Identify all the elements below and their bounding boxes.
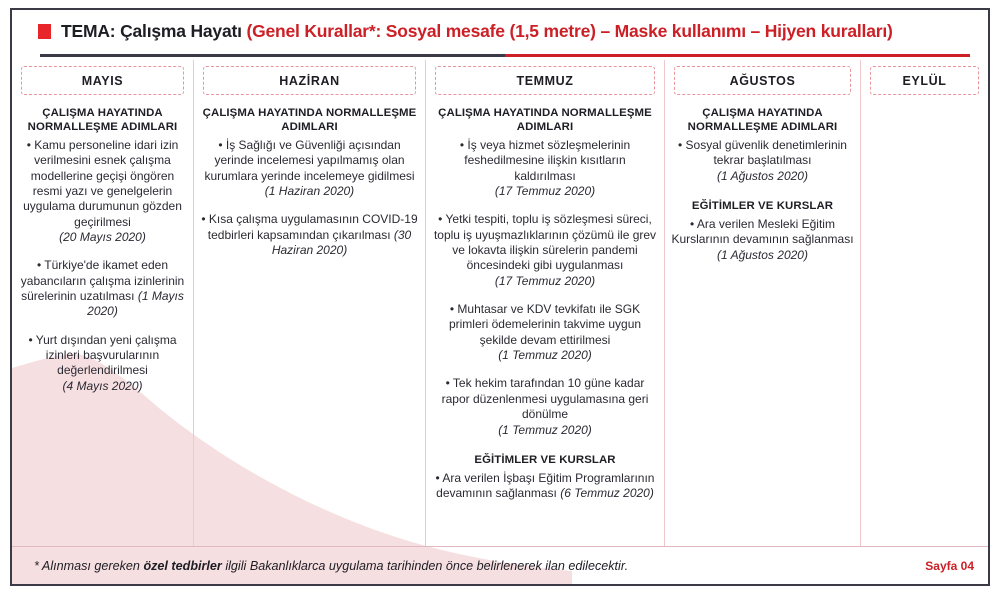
list-item-date: (1 Ağustos 2020) bbox=[717, 169, 808, 183]
section-heading: ÇALIŞMA HAYATINDA NORMALLEŞME ADIMLARI bbox=[18, 107, 187, 135]
month-column-eylul: EYLÜL bbox=[861, 60, 988, 546]
list-item-text: • Kısa çalışma uygulamasının COVID-19 te… bbox=[201, 212, 417, 241]
list-item: • Yurt dışından yeni çalışma izinleri ba… bbox=[18, 333, 187, 394]
list-item: • İş veya hizmet sözleşmelerinin feshedi… bbox=[432, 138, 658, 199]
month-header-temmuz[interactable]: TEMMUZ bbox=[435, 66, 655, 95]
list-item: • Tek hekim tarafından 10 güne kadar rap… bbox=[432, 376, 658, 437]
list-item-date: (17 Temmuz 2020) bbox=[495, 184, 595, 198]
page-title: TEMA: Çalışma Hayatı (Genel Kurallar*: S… bbox=[12, 10, 988, 52]
title-text: TEMA: Çalışma Hayatı (Genel Kurallar*: S… bbox=[61, 21, 893, 42]
month-body-agustos: ÇALIŞMA HAYATINDA NORMALLEŞME ADIMLARI •… bbox=[671, 107, 854, 263]
list-item-date: (1 Temmuz 2020) bbox=[498, 423, 592, 437]
list-item: • Yetki tespiti, toplu iş sözleşmesi sür… bbox=[432, 212, 658, 289]
footer-note-emphasis: özel tedbirler bbox=[143, 559, 221, 573]
month-label: AĞUSTOS bbox=[730, 74, 796, 88]
month-body-haziran: ÇALIŞMA HAYATINDA NORMALLEŞME ADIMLARI •… bbox=[200, 107, 419, 258]
list-item-date: (1 Temmuz 2020) bbox=[498, 348, 592, 362]
list-item-text: • Kamu personeline idari izin verilmesin… bbox=[23, 138, 182, 229]
list-item-date: (4 Mayıs 2020) bbox=[62, 379, 142, 393]
list-item-text: • Sosyal güvenlik denetimlerinin tekrar … bbox=[678, 138, 847, 167]
section-heading: ÇALIŞMA HAYATINDA NORMALLEŞME ADIMLARI bbox=[200, 107, 419, 135]
list-item-text: • Yurt dışından yeni çalışma izinleri ba… bbox=[28, 333, 176, 378]
list-item: • Sosyal güvenlik denetimlerinin tekrar … bbox=[671, 138, 854, 184]
list-item: • Ara verilen İşbaşı Eğitim Programların… bbox=[432, 471, 658, 502]
month-column-mayis: MAYIS ÇALIŞMA HAYATINDA NORMALLEŞME ADIM… bbox=[12, 60, 194, 546]
list-item-text: • İş Sağlığı ve Güvenliği açısından yeri… bbox=[204, 138, 414, 183]
footer-note: * Alınması gereken özel tedbirler ilgili… bbox=[34, 559, 925, 573]
month-body-temmuz: ÇALIŞMA HAYATINDA NORMALLEŞME ADIMLARI •… bbox=[432, 107, 658, 502]
month-column-agustos: AĞUSTOS ÇALIŞMA HAYATINDA NORMALLEŞME AD… bbox=[665, 60, 861, 546]
list-item-date: (1 Ağustos 2020) bbox=[717, 248, 808, 262]
month-columns: MAYIS ÇALIŞMA HAYATINDA NORMALLEŞME ADIM… bbox=[12, 60, 988, 546]
list-item-date: (1 Haziran 2020) bbox=[265, 184, 354, 198]
footer-note-tail: ilgili Bakanlıklarca uygulama tarihinden… bbox=[222, 559, 628, 573]
month-label: EYLÜL bbox=[903, 74, 947, 88]
list-item-date: (6 Temmuz 2020) bbox=[560, 486, 654, 500]
title-divider-red-half bbox=[505, 54, 970, 57]
month-body-mayis: ÇALIŞMA HAYATINDA NORMALLEŞME ADIMLARI •… bbox=[18, 107, 187, 394]
slide-frame: TEMA: Çalışma Hayatı (Genel Kurallar*: S… bbox=[10, 8, 990, 586]
footer-note-lead: * Alınması gereken bbox=[34, 559, 143, 573]
month-header-mayis[interactable]: MAYIS bbox=[21, 66, 184, 95]
list-item: • Kamu personeline idari izin verilmesin… bbox=[18, 138, 187, 246]
list-item-date: (20 Mayıs 2020) bbox=[59, 230, 146, 244]
title-divider-rule bbox=[40, 54, 970, 57]
list-item: • İş Sağlığı ve Güvenliği açısından yeri… bbox=[200, 138, 419, 199]
section-heading: EĞİTİMLER VE KURSLAR bbox=[671, 200, 854, 214]
month-column-temmuz: TEMMUZ ÇALIŞMA HAYATINDA NORMALLEŞME ADI… bbox=[426, 60, 665, 546]
list-item-text: • Tek hekim tarafından 10 güne kadar rap… bbox=[442, 376, 649, 421]
list-item: • Türkiye'de ikamet eden yabancıların ça… bbox=[18, 258, 187, 319]
list-item-text: • Yetki tespiti, toplu iş sözleşmesi sür… bbox=[434, 212, 656, 272]
month-label: TEMMUZ bbox=[516, 74, 573, 88]
section-heading: ÇALIŞMA HAYATINDA NORMALLEŞME ADIMLARI bbox=[432, 107, 658, 135]
month-label: MAYIS bbox=[82, 74, 123, 88]
section-heading: ÇALIŞMA HAYATINDA NORMALLEŞME ADIMLARI bbox=[671, 107, 854, 135]
section-heading: EĞİTİMLER VE KURSLAR bbox=[432, 454, 658, 468]
title-divider-dark-half bbox=[40, 54, 505, 57]
month-column-haziran: HAZİRAN ÇALIŞMA HAYATINDA NORMALLEŞME AD… bbox=[194, 60, 426, 546]
slide-root: TEMA: Çalışma Hayatı (Genel Kurallar*: S… bbox=[0, 0, 1000, 600]
footer: * Alınması gereken özel tedbirler ilgili… bbox=[12, 547, 988, 584]
page-number: Sayfa 04 bbox=[925, 559, 974, 573]
list-item: • Ara verilen Mesleki Eğitim Kurslarının… bbox=[671, 217, 854, 263]
title-square-icon bbox=[38, 24, 51, 39]
month-header-agustos[interactable]: AĞUSTOS bbox=[674, 66, 851, 95]
list-item-text: • Muhtasar ve KDV tevkifatı ile SGK prim… bbox=[449, 302, 641, 347]
month-header-haziran[interactable]: HAZİRAN bbox=[203, 66, 416, 95]
list-item-date: (17 Temmuz 2020) bbox=[495, 274, 595, 288]
list-item: • Muhtasar ve KDV tevkifatı ile SGK prim… bbox=[432, 302, 658, 363]
list-item: • Kısa çalışma uygulamasının COVID-19 te… bbox=[200, 212, 419, 258]
month-label: HAZİRAN bbox=[279, 74, 339, 88]
title-text-red: (Genel Kurallar*: Sosyal mesafe (1,5 met… bbox=[246, 21, 892, 41]
month-header-eylul[interactable]: EYLÜL bbox=[870, 66, 979, 95]
title-text-black: TEMA: Çalışma Hayatı bbox=[61, 21, 246, 41]
list-item-text: • İş veya hizmet sözleşmelerinin feshedi… bbox=[460, 138, 630, 183]
list-item-text: • Ara verilen Mesleki Eğitim Kurslarının… bbox=[671, 217, 853, 246]
